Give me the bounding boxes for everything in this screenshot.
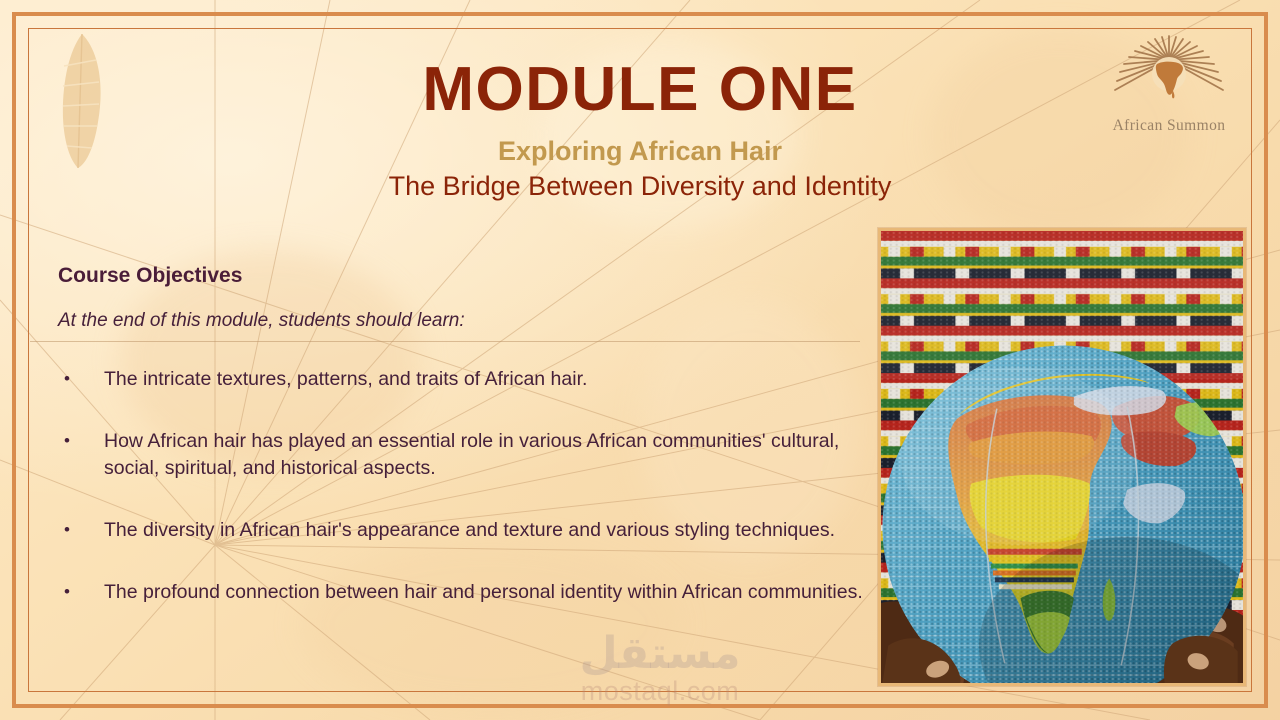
- list-item: • The intricate textures, patterns, and …: [64, 366, 864, 394]
- objectives-lead-text: At the end of this module, students shou…: [58, 310, 465, 332]
- watermark-latin: mostaql.com: [520, 678, 800, 705]
- subtitle-accent: Exploring African Hair: [0, 137, 1280, 167]
- list-item-text: How African hair has played an essential…: [104, 428, 864, 483]
- list-item: • How African hair has played an essenti…: [64, 428, 864, 483]
- section-divider: [30, 341, 860, 342]
- watermark: مستقل mostaql.com: [520, 632, 800, 705]
- beaded-globe-illustration: [881, 231, 1243, 683]
- bullet-marker-icon: •: [64, 428, 104, 453]
- slide-canvas: African Summon MODULE ONE Exploring Afri…: [0, 0, 1280, 720]
- objectives-bullet-list: • The intricate textures, patterns, and …: [64, 366, 864, 640]
- objectives-heading: Course Objectives: [58, 264, 242, 288]
- subtitle-main: The Bridge Between Diversity and Identit…: [0, 171, 1280, 202]
- bullet-marker-icon: •: [64, 366, 104, 391]
- bullet-marker-icon: •: [64, 517, 104, 542]
- list-item: • The diversity in African hair's appear…: [64, 517, 864, 545]
- list-item-text: The profound connection between hair and…: [104, 579, 864, 607]
- list-item-text: The intricate textures, patterns, and tr…: [104, 366, 864, 394]
- page-title: MODULE ONE: [0, 58, 1280, 121]
- list-item-text: The diversity in African hair's appearan…: [104, 517, 864, 545]
- list-item: • The profound connection between hair a…: [64, 579, 864, 607]
- beaded-globe-photo: [878, 228, 1246, 686]
- title-block: MODULE ONE Exploring African Hair The Br…: [0, 58, 1280, 202]
- bullet-marker-icon: •: [64, 579, 104, 604]
